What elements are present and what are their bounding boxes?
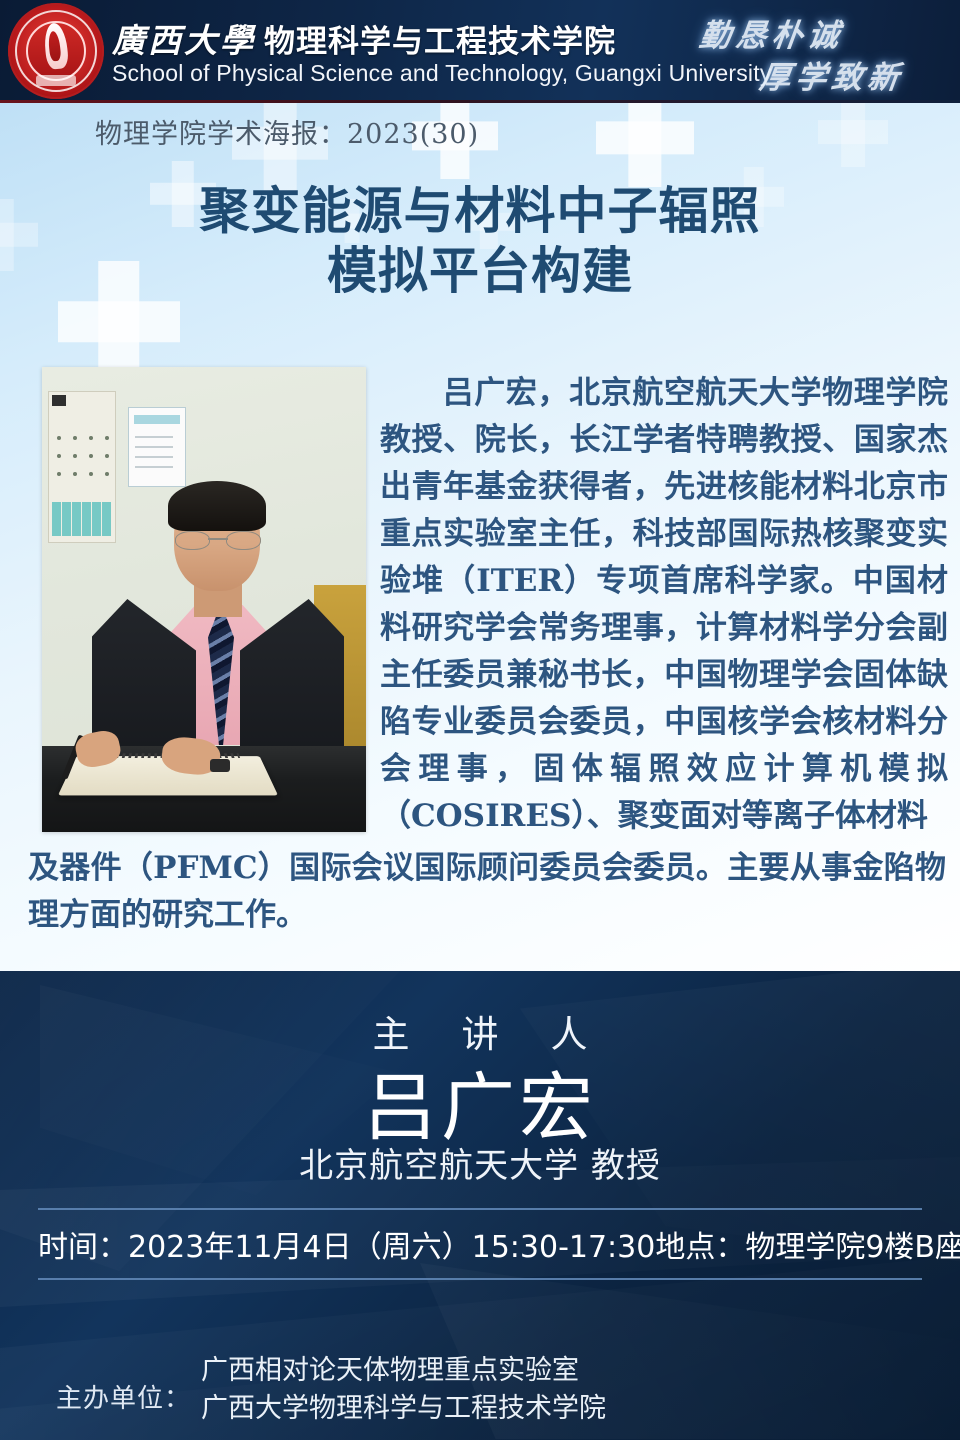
- poster-title-line-1: 聚变能源与材料中子辐照: [200, 182, 761, 240]
- university-emblem-icon: [8, 3, 104, 99]
- poster-root: 廣西大學物理科学与工程技术学院 School of Physical Scien…: [0, 0, 960, 1440]
- plus-decoration-icon: [818, 103, 888, 167]
- event-time-value: 2023年11月4日（周六）15:30-17:30: [128, 1222, 655, 1266]
- event-details: 时间： 2023年11月4日（周六）15:30-17:30 地点： 物理学院9楼…: [38, 1222, 922, 1266]
- site-header: 廣西大學物理科学与工程技术学院 School of Physical Scien…: [0, 0, 960, 103]
- event-place-label: 地点：: [655, 1222, 745, 1266]
- speaker-biography-tail: 及器件（PFMC）国际会议国际顾问委员会委员。主要从事金陷物理方面的研究工作。: [28, 845, 946, 939]
- organizer-item: 广西大学物理科学与工程技术学院: [201, 1390, 606, 1428]
- motto-line-1: 勤恳朴诚: [697, 10, 847, 55]
- speaker-biography: 吕广宏，北京航空航天大学物理学院教授、院长，长江学者特聘教授、国家杰出青年基金获…: [380, 370, 948, 840]
- header-english-title: School of Physical Science and Technolog…: [112, 60, 772, 87]
- header-chinese-title: 廣西大學物理科学与工程技术学院: [112, 14, 616, 62]
- organizers-list: 广西相对论天体物理重点实验室 广西大学物理科学与工程技术学院: [201, 1352, 606, 1428]
- poster-title: 聚变能源与材料中子辐照 模拟平台构建: [0, 181, 960, 301]
- header-school-name: 物理科学与工程技术学院: [264, 24, 616, 60]
- eyeglasses-icon: [174, 531, 262, 548]
- divider-bottom: [38, 1278, 922, 1280]
- organizers-label: 主办单位：: [56, 1352, 191, 1415]
- header-university-name: 廣西大學: [112, 21, 256, 60]
- event-time-label: 时间：: [38, 1222, 128, 1266]
- event-place-value: 物理学院9楼B座天象馆: [745, 1222, 960, 1266]
- biography-main-text: 吕广宏，北京航空航天大学物理学院教授、院长，长江学者特聘教授、国家杰出青年基金获…: [380, 375, 948, 834]
- university-motto: 勤恳朴诚 厚学致新: [700, 6, 950, 98]
- plus-decoration-icon: [596, 103, 694, 187]
- divider-top: [38, 1208, 922, 1210]
- organizers: 主办单位： 广西相对论天体物理重点实验室 广西大学物理科学与工程技术学院: [56, 1352, 606, 1428]
- hair: [168, 481, 266, 531]
- organizer-item: 广西相对论天体物理重点实验室: [201, 1352, 606, 1390]
- speaker-affiliation: 北京航空航天大学 教授: [0, 1138, 960, 1187]
- poster-title-line-2: 模拟平台构建: [0, 241, 960, 301]
- framed-certificate: [128, 407, 186, 487]
- wristwatch: [210, 759, 230, 772]
- motto-line-2: 厚学致新: [757, 52, 907, 97]
- poster-issue-number: 物理学院学术海报：2023(30): [95, 112, 479, 151]
- speaker-photo: [42, 367, 366, 832]
